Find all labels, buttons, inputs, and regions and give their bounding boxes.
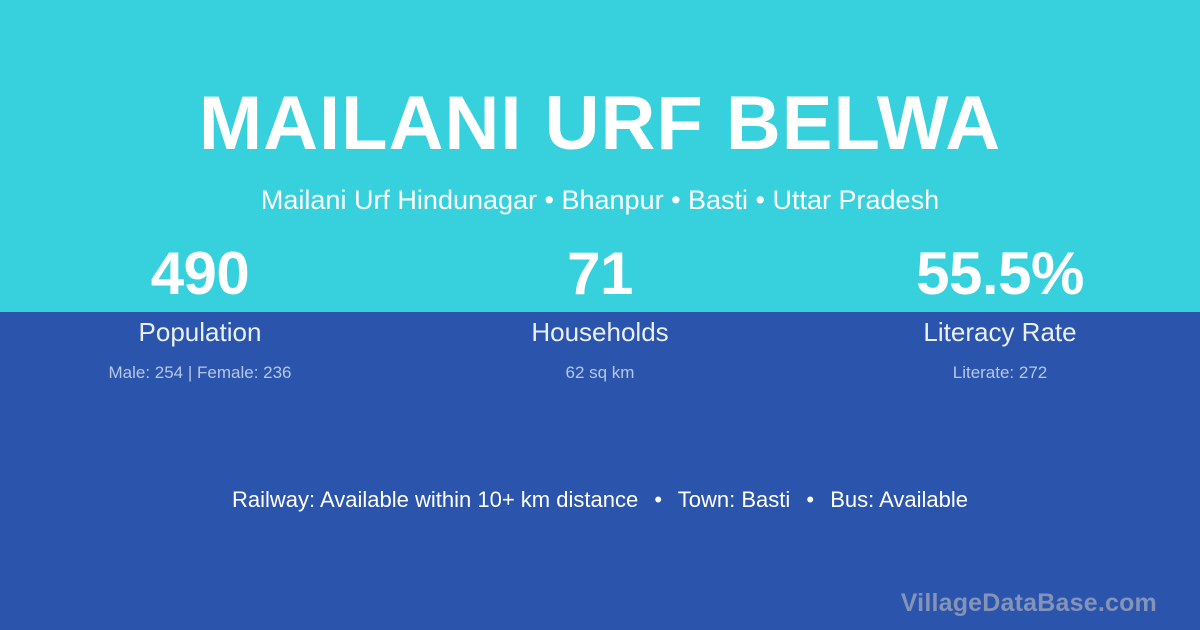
amenities-info-line: Railway: Available within 10+ km distanc… <box>0 486 1200 515</box>
bus-info: Bus: Available <box>830 487 968 512</box>
town-info: Town: Basti <box>678 487 791 512</box>
stat-label: Population <box>0 306 400 345</box>
page-title: MAILANI URF BELWA <box>0 0 1200 162</box>
bullet-separator-icon: • <box>644 487 672 512</box>
stat-label: Households <box>400 306 800 345</box>
stat-detail: 62 sq km <box>400 345 800 381</box>
stat-label: Literacy Rate <box>800 306 1200 345</box>
bullet-separator-icon: • <box>796 487 824 512</box>
stat-literacy-rate: 55.5% Literacy Rate Literate: 272 <box>800 244 1200 381</box>
stat-value: 55.5% <box>800 244 1200 306</box>
stat-detail: Literate: 272 <box>800 345 1200 381</box>
stat-households: 71 Households 62 sq km <box>400 244 800 381</box>
stat-value: 490 <box>0 244 400 306</box>
stats-row: 490 Population Male: 254 | Female: 236 7… <box>0 244 1200 381</box>
breadcrumb: Mailani Urf Hindunagar • Bhanpur • Basti… <box>0 162 1200 216</box>
stat-detail: Male: 254 | Female: 236 <box>0 345 400 381</box>
village-info-card: MAILANI URF BELWA Mailani Urf Hindunagar… <box>0 0 1200 630</box>
stat-value: 71 <box>400 244 800 306</box>
stat-population: 490 Population Male: 254 | Female: 236 <box>0 244 400 381</box>
card-header: MAILANI URF BELWA Mailani Urf Hindunagar… <box>0 0 1200 216</box>
railway-info: Railway: Available within 10+ km distanc… <box>232 487 638 512</box>
site-watermark: VillageDataBase.com <box>901 591 1157 616</box>
